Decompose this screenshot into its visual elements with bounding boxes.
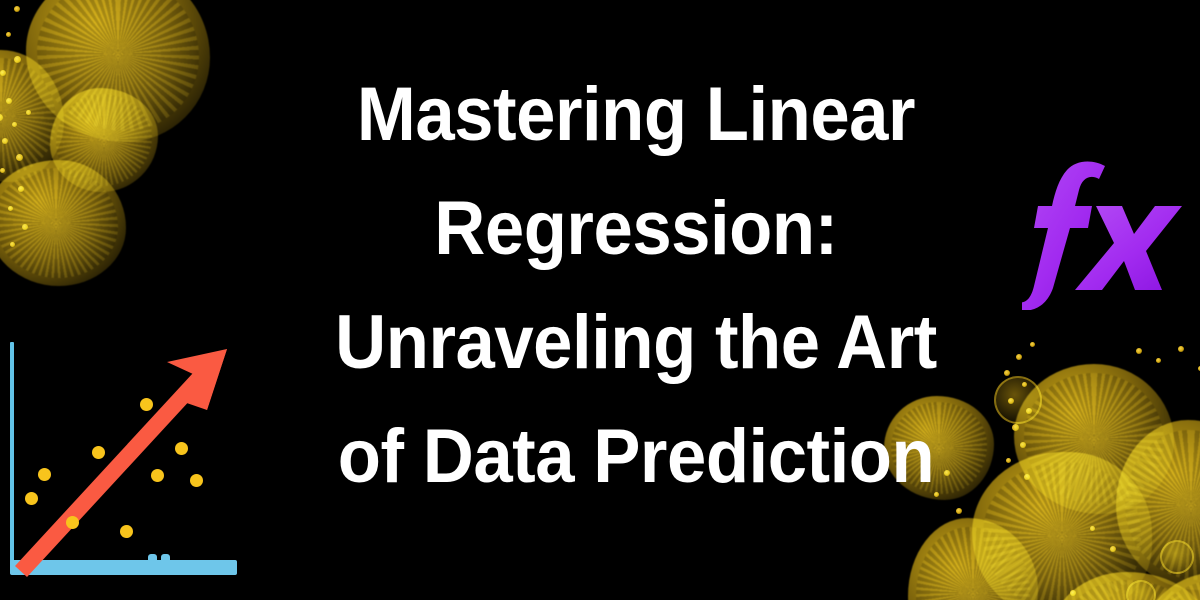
- hero-banner: Mastering Linear Regression: Unraveling …: [0, 0, 1200, 600]
- title-line-1: Mastering Linear: [279, 58, 993, 172]
- scatter-point: [175, 442, 188, 455]
- trend-line-arrow-icon: [0, 336, 252, 588]
- scatter-point: [151, 469, 164, 482]
- scatter-point: [38, 468, 51, 481]
- title-line-2: Regression:: [279, 172, 993, 286]
- scatter-point: [120, 525, 133, 538]
- scatter-point: [25, 492, 38, 505]
- scatter-point: [92, 446, 105, 459]
- title-line-3: Unraveling the Art: [279, 286, 993, 400]
- scatter-point: [66, 516, 79, 529]
- page-title: Mastering Linear Regression: Unraveling …: [252, 58, 1020, 514]
- scatter-plot-regression-icon: [0, 336, 252, 588]
- title-line-4: of Data Prediction: [279, 400, 993, 514]
- scatter-point: [140, 398, 153, 411]
- scatter-point: [190, 474, 203, 487]
- colony-texture-top-left: [0, 0, 290, 340]
- function-fx-icon: [1022, 158, 1182, 310]
